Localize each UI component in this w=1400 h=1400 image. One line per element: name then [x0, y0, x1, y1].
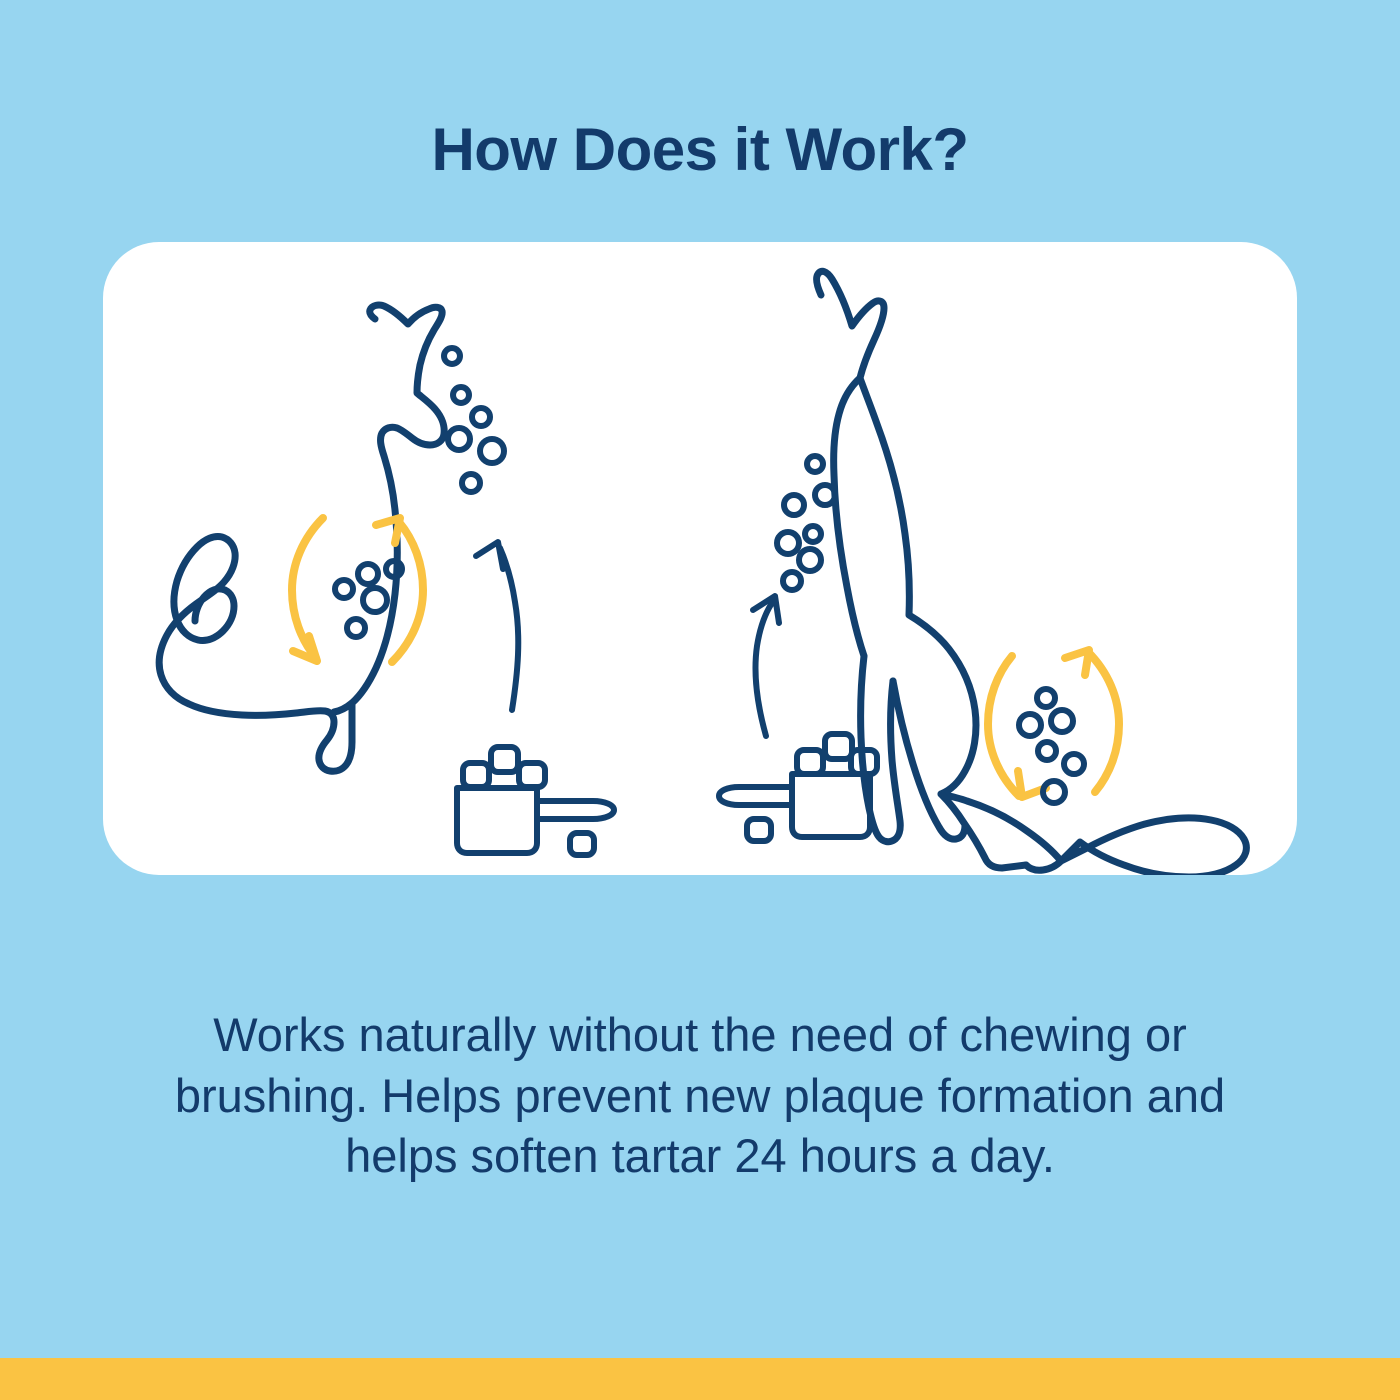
- dog-cycle-arrow-upleft: [1088, 652, 1119, 792]
- caption-text: Works naturally without the need of chew…: [150, 1005, 1250, 1187]
- dog-cycle-arrow-upleft-head: [1065, 650, 1089, 675]
- dog-silhouette: [817, 271, 1247, 875]
- dog-cycle-arrow-downright: [988, 656, 1019, 796]
- dog-front-leg-2: [893, 681, 965, 839]
- cat-silhouette: [159, 305, 444, 771]
- dog-group: [719, 271, 1246, 875]
- illustration-card: [103, 242, 1297, 875]
- cat-rising-bubbles: [444, 348, 504, 492]
- dog-upward-arrow: [755, 600, 774, 736]
- cat-upward-arrow-head: [476, 542, 503, 569]
- dog-chest-line: [834, 378, 864, 656]
- dog-rising-bubbles: [777, 456, 835, 590]
- bottom-accent-bar: [0, 1358, 1400, 1400]
- cat-cycle-arrow-up-head: [376, 518, 400, 543]
- cat-food-scoop: [457, 747, 614, 855]
- dog-plaque-dots: [1019, 689, 1084, 803]
- page-root: How Does it Work?: [0, 0, 1400, 1400]
- dog-food-scoop: [719, 734, 877, 841]
- page-title: How Does it Work?: [0, 118, 1400, 181]
- illustration-svg: [103, 242, 1297, 875]
- cat-upward-arrow: [500, 548, 518, 710]
- cat-group: [159, 305, 614, 855]
